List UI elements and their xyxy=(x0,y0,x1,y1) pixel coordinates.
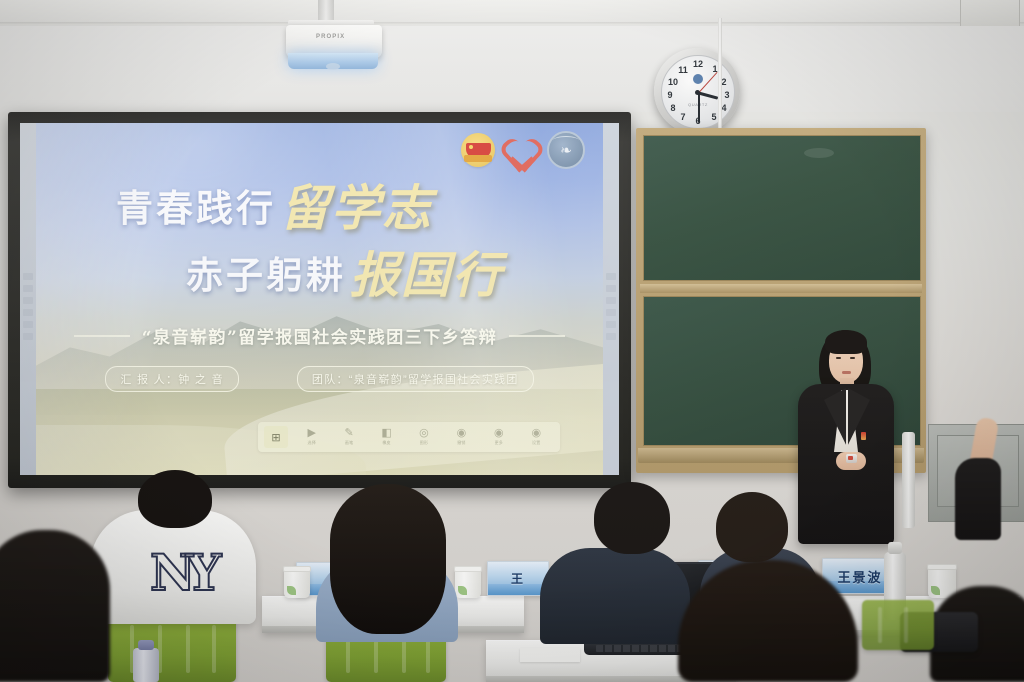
wall-clock: 12 1 2 3 4 5 6 7 8 9 10 11 QUARTZ xyxy=(654,48,740,134)
chalkboard-upper-panel xyxy=(643,135,921,281)
clock-minute-hand xyxy=(698,93,700,123)
desk-paper xyxy=(520,648,580,662)
interactive-whiteboard[interactable]: ❧ 青春践行 留学志 赤子躬耕 报国行 xyxy=(8,112,631,488)
slide-credits-row: 汇 报 人：钟 之 音 团队：“泉音崭韵”留学报国社会实践团 xyxy=(36,366,603,392)
more-icon: ◉ xyxy=(494,428,504,439)
settings-label: 设置 xyxy=(532,440,540,446)
youth-league-flag-logo xyxy=(461,133,495,167)
undo-icon: ◉ xyxy=(457,428,467,439)
gear-icon: ◉ xyxy=(531,428,541,439)
person-raised-arm xyxy=(955,418,1001,538)
toolbar-shape-tool[interactable]: ◎ 图形 xyxy=(406,428,441,446)
student-water-bottle xyxy=(133,648,159,682)
clock-numeral-7: 7 xyxy=(677,112,689,122)
student-ny-head xyxy=(138,470,212,528)
headline-line2-white: 赤子躬耕 xyxy=(186,245,346,299)
student-foreground-left xyxy=(0,530,110,682)
ny-logo: NY xyxy=(150,545,206,601)
whiteboard-left-rail[interactable] xyxy=(20,123,36,475)
toolbar-settings-tool[interactable]: ◉ 设置 xyxy=(519,428,554,446)
clock-numeral-9: 9 xyxy=(664,90,676,100)
pen-icon: ✎ xyxy=(345,428,354,439)
wall-upper-band xyxy=(0,26,1024,112)
clock-numeral-10: 10 xyxy=(667,77,679,87)
whiteboard-right-rail[interactable] xyxy=(603,123,619,475)
clock-brand-icon xyxy=(693,74,703,84)
student-dark-shirt-body xyxy=(540,548,690,644)
slide-subtitle-row: “泉音崭韵”留学报国社会实践团三下乡答辩 xyxy=(36,323,603,348)
university-seal-logo: ❧ xyxy=(547,131,585,169)
eraser-label: 橡皮 xyxy=(382,440,390,446)
slide-subtitle: “泉音崭韵”留学报国社会实践团三下乡答辩 xyxy=(142,323,498,348)
presenter-eye-right xyxy=(850,357,855,359)
paper-cup-2 xyxy=(455,568,481,598)
presenter-clicker xyxy=(846,454,857,463)
select-icon: ▶ xyxy=(307,428,315,439)
slide-headline: 青春践行 留学志 赤子躬耕 报国行 xyxy=(36,169,603,307)
toolbar-home-button[interactable]: ⊞ xyxy=(264,426,288,448)
toolbar-select-tool[interactable]: ▶ 选择 xyxy=(294,428,329,446)
wall-pipe xyxy=(902,432,915,528)
toolbar-undo-tool[interactable]: ◉ 撤销 xyxy=(444,428,479,446)
presenter-suit xyxy=(798,384,894,544)
presenter-mouth xyxy=(842,371,851,374)
seal-glyph: ❧ xyxy=(560,143,572,157)
select-label: 选择 xyxy=(308,440,316,446)
more-label: 更多 xyxy=(495,440,503,446)
chair-ny-student xyxy=(108,616,236,682)
clock-numeral-3: 3 xyxy=(721,90,733,100)
heart-logo xyxy=(504,135,538,165)
presenter-lapel-pin xyxy=(861,432,866,440)
team-pill: 团队：“泉音崭韵”留学报国社会实践团 xyxy=(297,366,534,392)
presenter-hair-top xyxy=(825,330,867,354)
nameplate-center-text: 王 xyxy=(511,570,525,587)
toolbar-more-tool[interactable]: ◉ 更多 xyxy=(481,428,516,446)
presenter-eye-left xyxy=(836,357,841,359)
clock-numeral-12: 12 xyxy=(692,59,704,69)
whiteboard-toolbar[interactable]: ⊞ ▶ 选择 ✎ 画笔 ◧ 橡皮 ◎ 图形 xyxy=(258,422,560,452)
presenter-pill: 汇 报 人：钟 之 音 xyxy=(105,366,239,392)
whiteboard-display[interactable]: ❧ 青春践行 留学志 赤子躬耕 报国行 xyxy=(20,123,619,475)
undo-label: 撤销 xyxy=(457,440,465,446)
chair-right xyxy=(862,600,934,650)
student-long-hair xyxy=(330,484,446,634)
shape-icon: ◎ xyxy=(419,428,429,439)
headline-line1-cream: 留学志 xyxy=(280,169,433,240)
pen-label: 画笔 xyxy=(345,440,353,446)
paper-cup-1 xyxy=(284,568,310,598)
eraser-icon: ◧ xyxy=(381,428,391,439)
subtitle-rule-left xyxy=(74,335,130,337)
projector-brand-label: PROPIX xyxy=(316,34,345,40)
clock-center-pin xyxy=(695,90,700,95)
water-bottle-cap xyxy=(138,640,154,650)
clock-face: 12 1 2 3 4 5 6 7 8 9 10 11 QUARTZ xyxy=(661,55,735,129)
toolbar-pen-tool[interactable]: ✎ 画笔 xyxy=(331,428,366,446)
headline-line1-white: 青春践行 xyxy=(116,178,276,232)
student-dark-shirt xyxy=(594,482,670,554)
classroom-scene: PROPIX 12 1 2 3 4 5 6 7 8 9 10 11 QUARTZ xyxy=(0,0,1024,682)
ceiling-wire xyxy=(718,18,722,140)
clock-numeral-11: 11 xyxy=(677,65,689,75)
chalkboard-middle-rail xyxy=(640,284,922,293)
subtitle-rule-right xyxy=(509,335,565,337)
bottle-cap xyxy=(888,542,902,554)
clock-numeral-8: 8 xyxy=(667,103,679,113)
student-front-right xyxy=(716,492,788,562)
raised-arm-sleeve xyxy=(955,458,1001,540)
toolbar-eraser-tool[interactable]: ◧ 橡皮 xyxy=(369,428,404,446)
clicker-button xyxy=(848,456,853,460)
shape-label: 图形 xyxy=(420,440,428,446)
projector-focus-knob xyxy=(326,63,340,70)
nameplate-judge-text: 王景波 xyxy=(837,567,882,586)
ceiling-seam xyxy=(0,22,1024,25)
presentation-slide[interactable]: ❧ 青春践行 留学志 赤子躬耕 报国行 xyxy=(36,123,603,475)
headline-line2-cream: 报国行 xyxy=(350,236,503,307)
clock-hour-hand xyxy=(698,92,718,100)
slide-logo-row: ❧ xyxy=(461,131,585,169)
